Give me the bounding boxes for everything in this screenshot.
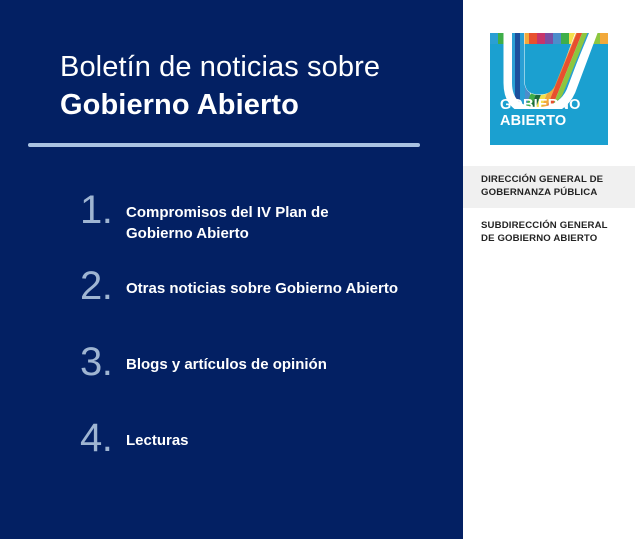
list-item-label-line-2: Gobierno Abierto [126, 223, 450, 244]
list-item-label: Otras noticias sobre Gobierno Abierto [126, 266, 450, 299]
department-primary-line-2: GOBERNANZA PÚBLICA [481, 186, 631, 199]
department-primary-line-1: DIRECCIÓN GENERAL DE [481, 173, 631, 186]
list-item-number: 4. [80, 418, 126, 458]
page-title-line-2: Gobierno Abierto [60, 86, 440, 124]
navy-content-panel: Boletín de noticias sobre Gobierno Abier… [0, 0, 463, 539]
logo-wordmark-line-1: GOBIERNO [500, 97, 581, 113]
title-divider [28, 143, 420, 147]
list-item-label-line-1: Blogs y artículos de opinión [126, 356, 327, 373]
list-item-number: 2. [80, 266, 126, 306]
logo-wordmark-line-2: ABIERTO [500, 113, 581, 129]
slide-canvas: Boletín de noticias sobre Gobierno Abier… [0, 0, 635, 539]
list-item[interactable]: 1. Compromisos del IV Plan de Gobierno A… [80, 190, 450, 266]
list-item[interactable]: 2. Otras noticias sobre Gobierno Abierto [80, 266, 450, 342]
list-item[interactable]: 3. Blogs y artículos de opinión [80, 342, 450, 418]
logo-wordmark: GOBIERNO ABIERTO [500, 97, 581, 129]
list-item[interactable]: 4. Lecturas [80, 418, 450, 494]
list-item-label-line-1: Otras noticias sobre Gobierno Abierto [126, 280, 398, 297]
list-item-number: 1. [80, 190, 126, 230]
list-item-label-line-1: Lecturas [126, 432, 189, 449]
list-item-label: Compromisos del IV Plan de Gobierno Abie… [126, 190, 450, 244]
department-primary-name: DIRECCIÓN GENERAL DE GOBERNANZA PÚBLICA [481, 173, 631, 199]
gobierno-abierto-logo: GOBIERNO ABIERTO [490, 33, 608, 145]
department-secondary-name: SUBDIRECCIÓN GENERAL DE GOBIERNO ABIERTO [481, 219, 633, 245]
list-item-label-line-1: Compromisos del IV Plan de [126, 204, 329, 221]
page-title: Boletín de noticias sobre Gobierno Abier… [60, 48, 440, 124]
department-secondary-line-1: SUBDIRECCIÓN GENERAL [481, 219, 633, 232]
list-item-label: Lecturas [126, 418, 450, 451]
department-secondary-line-2: DE GOBIERNO ABIERTO [481, 232, 633, 245]
page-title-line-1: Boletín de noticias sobre [60, 48, 440, 86]
list-item-number: 3. [80, 342, 126, 382]
list-item-label: Blogs y artículos de opinión [126, 342, 450, 375]
agenda-list: 1. Compromisos del IV Plan de Gobierno A… [80, 190, 450, 494]
branding-panel: GOBIERNO ABIERTO DIRECCIÓN GENERAL DE GO… [463, 0, 635, 539]
